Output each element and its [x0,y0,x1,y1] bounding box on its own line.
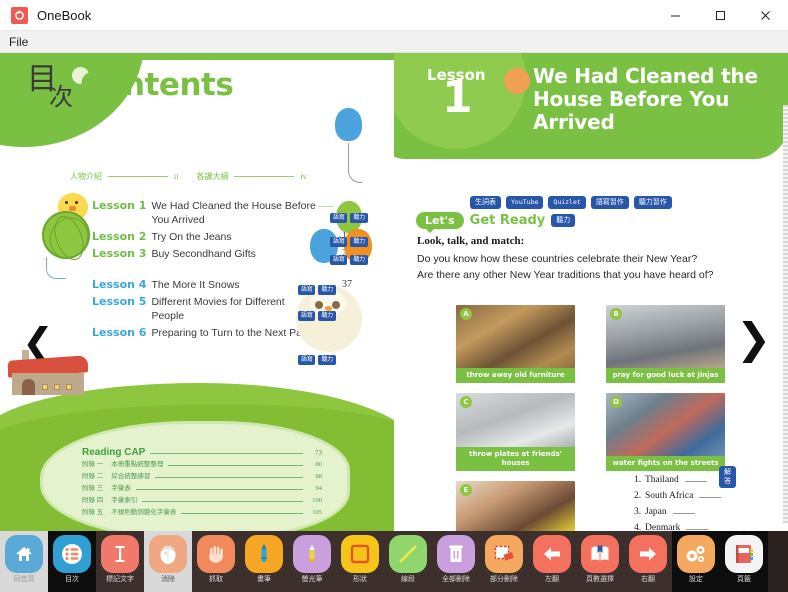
appendix-label: 附錄 一 [82,461,103,469]
toolbar-button-page-right[interactable]: 右翻 [624,531,672,592]
toolbar-button-line[interactable]: 線段 [384,531,432,592]
answer-number: 1. [634,475,645,485]
lesson-label: Lesson 6 [92,326,146,340]
toolbar-button-delete-part[interactable]: 部分刪除 [480,531,528,592]
show-answer-button[interactable]: 解答 [719,466,736,488]
reading-cap-title: Reading CAP [82,449,145,457]
leader-line [234,176,294,177]
minimize-button[interactable] [653,0,698,31]
badge-listening[interactable]: 聽力 [318,285,335,295]
lesson-label: Lesson 4 [92,278,146,292]
toolbar-button-bookmark[interactable]: 頁籤 [720,531,768,592]
barn-decoration [6,348,92,398]
tag-vocabulary[interactable]: 生詞表 [470,196,501,209]
toolbar-button-settings[interactable]: 設定 [672,531,720,592]
appendix-name: 綜合統整練習 [111,473,150,481]
appendix-name: 本冊重點統整整理 [111,461,163,469]
toolbar-button-page-select[interactable]: 頁數選擇 [576,531,624,592]
lesson-title: Different Movies for Different People [151,295,316,323]
home-icon [5,535,43,573]
trash-icon [437,535,475,573]
badge-group-lesson-1: 語寫 聽力 [330,213,368,223]
chick-beak [69,206,76,211]
text-cursor-icon [101,535,139,573]
tag-writing-workbook[interactable]: 語寫習作 [591,196,629,209]
toolbar-button-highlighter[interactable]: 螢光筆 [288,531,336,592]
reading-cap-page: 73 [308,449,322,457]
toolbar-button-mark-text[interactable]: 標記文字 [96,531,144,592]
badge-writing[interactable]: 語寫 [298,311,315,321]
answer-input-blank[interactable] [685,473,707,482]
appendix-row-5[interactable]: 附錄 五 不規則動詞變化字彙表 105 [82,509,322,517]
appendix-page: 94 [308,485,322,493]
appendix-row-3[interactable]: 附錄 三 字彙表 94 [82,485,322,493]
lesson-title: We Had Cleaned the House Before You Arri… [151,199,316,227]
toolbar-button-grab[interactable]: 抓取 [192,531,240,592]
tag-quizlet[interactable]: Quizlet [548,196,585,209]
answer-number: 2. [634,491,645,501]
toolbar-label: 畫筆 [257,574,271,584]
image-card-b[interactable]: B pray for good luck at jinjas [606,305,725,383]
lesson-label: Lesson 5 [92,295,146,309]
toolbar-label: 消除 [161,574,175,584]
lesson-title: Buy Secondhand Gifts [151,247,316,261]
prompt-line-1: Do you know how these countries celebrat… [417,251,777,267]
leader-line [318,199,334,207]
barn-window [66,384,72,390]
leader-line [181,513,303,514]
appendix-label: 附錄 三 [82,485,103,493]
shape-icon [341,535,379,573]
card-letter: E [460,484,472,496]
card-letter: C [460,396,472,408]
image-card-d[interactable]: D water fights on the streets [606,393,725,471]
toolbar-label: 抓取 [209,574,223,584]
tag-youtube[interactable]: YouTube [506,196,543,209]
barn-window [54,384,60,390]
lesson-heading: We Had Cleaned the House Before You Arri… [533,65,783,134]
lesson-label: Lesson 3 [92,247,146,261]
appendix-name: 字彙索引 [111,497,137,505]
badge-listening[interactable]: 聽力 [350,255,367,265]
hand-icon [197,535,235,573]
appendix-page: 88 [308,473,322,481]
toolbar-label: 部分刪除 [490,574,518,584]
card-letter: A [460,308,472,320]
lesson-title: Try On the Jeans [151,230,316,244]
sheep-eye [332,301,340,309]
toolbar-label: 頁籤 [737,574,751,584]
card-caption: water fights on the streets [606,456,725,471]
page-left-contents[interactable]: 目 次 Contents 人物介紹 ii 各課大綱 iv [0,53,394,538]
answer-list: 解答 1. Thailand 2. South Africa 3. Japan … [634,473,721,538]
index-page: iv [300,172,306,181]
window-controls [653,0,788,31]
appendix-name: 字彙表 [111,485,131,493]
answer-country: South Africa [645,491,693,501]
badge-listening[interactable]: 聽力 [318,311,335,321]
toolbar-label: 頁數選擇 [586,574,614,584]
lesson-title: Preparing to Turn to the Next Page [151,326,316,340]
title-bar: OneBook [0,0,788,31]
toolbar-label: 全部刪除 [442,574,470,584]
reading-cap-row[interactable]: Reading CAP 73 [82,449,322,457]
answer-row-1: 1. Thailand [634,473,721,485]
spacer [92,264,352,278]
image-card-c[interactable]: C throw plates at friends' houses [456,393,575,471]
toolbar-button-pen[interactable]: 畫筆 [240,531,288,592]
badge-writing[interactable]: 語寫 [330,255,347,265]
answer-input-blank[interactable] [699,489,721,498]
eraser-icon [149,535,187,573]
reading-cap-block: Reading CAP 73 附錄 一 本冊重點統整整理 80 附錄 二 綜合統… [82,449,322,517]
badge-listening[interactable]: 聽力 [318,355,335,365]
book-viewer[interactable]: 目 次 Contents 人物介紹 ii 各課大綱 iv [0,53,788,538]
menu-bar: File [0,31,788,53]
image-card-a[interactable]: A throw away old furniture [456,305,575,383]
toolbar-label: 目次 [65,574,79,584]
badge-group-lesson-4: 語寫 聽力 [298,285,336,295]
barn-door [22,379,35,395]
badge-listening[interactable]: 聽力 [350,213,367,223]
arrow-right-icon [629,535,667,573]
lets-bubble: Let's [416,212,464,229]
card-caption: throw plates at friends' houses [456,447,575,471]
resource-tag-row: 生詞表 YouTube Quizlet 語寫習作 聽力習作 [470,196,672,209]
answer-row-2: 2. South Africa [634,489,721,501]
barn-window [42,384,48,390]
toolbar-label: 螢光筆 [302,574,323,584]
badge-listening[interactable]: 聽力 [350,237,367,247]
appendix-page: 100 [308,497,322,505]
badge-writing[interactable]: 語寫 [298,355,315,365]
page-right-lesson[interactable]: Lesson 1 We Had Cleaned the House Before… [394,53,788,538]
chick-eye [75,201,78,204]
answer-input-blank[interactable] [673,505,695,514]
toolbar-label: 線段 [401,574,415,584]
card-caption: pray for good luck at jinjas [606,368,725,383]
toolbar-label: 左翻 [545,574,559,584]
lesson-row-1[interactable]: Lesson 1 We Had Cleaned the House Before… [92,199,352,227]
chevron-right-icon[interactable]: ❯ [736,318,771,360]
leader-line [168,465,303,466]
leader-line [142,501,303,502]
contents-cjk-heading: 目 次 [27,65,57,95]
appendix-label: 附錄 二 [82,473,103,481]
index-label: 人物介紹 [70,171,102,182]
toolbar-button-home[interactable]: 回首頁 [0,531,48,592]
badge-group-lesson-6: 語寫 聽力 [298,355,336,365]
tag-audio[interactable]: 聽力 [551,214,575,227]
badge-group-lesson-5: 語寫 聽力 [298,311,336,321]
index-links-row: 人物介紹 ii 各課大綱 iv [70,171,370,182]
index-page: ii [174,172,178,181]
menu-item-file[interactable]: File [0,33,36,51]
index-link-characters[interactable]: 人物介紹 ii [70,171,178,182]
contents-cjk-2: 次 [49,85,73,109]
tag-listening-workbook[interactable]: 聽力習作 [634,196,672,209]
chick-eye [65,201,68,204]
lesson-number: 1 [442,76,473,120]
toolbar-button-delete-all[interactable]: 全部刪除 [432,531,480,592]
image-card-e[interactable]: E eat 12 grapes during the countdown [456,481,575,538]
answer-country: Japan [645,507,667,517]
card-letter: D [610,396,622,408]
appendix-row-4[interactable]: 附錄 四 字彙索引 100 [82,497,322,505]
toolbar-label: 回首頁 [14,574,35,584]
orange-dot-decoration [504,68,530,94]
sheep-eye [315,301,323,309]
bottom-toolbar: 回首頁 目次 標記文字 [0,531,788,592]
app-logo-icon [11,7,28,24]
appendix-label: 附錄 四 [82,497,103,505]
toolbar-label: 右翻 [641,574,655,584]
toolbar-label: 形狀 [353,574,367,584]
maximize-button[interactable] [698,0,743,31]
appendix-label: 附錄 五 [82,509,103,517]
toolbar-system-group: 設定 頁籤 [672,531,768,592]
contents-title: Contents [80,67,233,103]
pen-icon [245,535,283,573]
appendix-row-2[interactable]: 附錄 二 綜合統整練習 88 [82,473,322,481]
index-label: 各課大綱 [196,171,228,182]
toolbar-tools-group: 標記文字 消除 [96,531,672,592]
toolbar-label: 標記文字 [106,574,134,584]
highlighter-icon [293,535,331,573]
answer-row-3: 3. Japan [634,505,721,517]
lesson-header: Lesson 1 We Had Cleaned the House Before… [394,53,788,168]
section-header: Let's Get Ready 聽力 [416,212,575,229]
page-edge-decoration [783,105,788,523]
prompt-line-2: Are there any other New Year traditions … [417,267,777,283]
toolbar-button-shape[interactable]: 形狀 [336,531,384,592]
section-title: Get Ready [470,213,546,228]
app-title: OneBook [37,8,91,23]
badge-writing[interactable]: 語寫 [330,237,347,247]
lesson-label: Lesson 1 [92,199,146,213]
appendix-name: 不規則動詞變化字彙表 [111,509,176,517]
arrow-left-icon [533,535,571,573]
yarn-ball-decoration [42,211,90,259]
card-letter: B [610,308,622,320]
lesson-title: The More It Snows [151,278,316,292]
answer-input-blank[interactable] [686,521,708,530]
toolbar-label: 設定 [689,574,703,584]
open-book-icon [581,535,619,573]
yarn-thread [46,257,66,279]
close-button[interactable] [743,0,788,31]
gear-icon [677,535,715,573]
prompt-block: Look, talk, and match: Do you know how t… [417,235,777,283]
leader-line [136,489,303,490]
appendix-row-1[interactable]: 附錄 一 本冊重點統整整理 80 [82,461,322,469]
answer-country: Thailand [645,475,679,485]
appendix-page: 80 [308,461,322,469]
lesson-label: Lesson 2 [92,230,146,244]
partial-erase-icon [485,535,523,573]
badge-writing[interactable]: 語寫 [298,285,315,295]
book-icon [725,535,763,573]
card-caption: throw away old furniture [456,368,575,383]
balloon-decoration [335,108,362,141]
toolbar-button-contents[interactable]: 目次 [48,531,96,592]
appendix-page: 105 [308,509,322,517]
badge-group-lesson-3: 語寫 聽力 [330,255,368,265]
card-photo [456,481,575,538]
leader-line [108,176,168,177]
line-icon [389,535,427,573]
badge-writing[interactable]: 語寫 [330,213,347,223]
prompt-heading: Look, talk, and match: [417,235,777,247]
badge-group-lesson-2: 語寫 聽力 [330,237,368,247]
answer-number: 3. [634,507,645,517]
leader-line [155,477,303,478]
leader-line [150,453,303,454]
index-link-outline[interactable]: 各課大綱 iv [196,171,306,182]
toolbar-button-page-left[interactable]: 左翻 [528,531,576,592]
toolbar-button-erase[interactable]: 消除 [144,531,192,592]
list-icon [53,535,91,573]
